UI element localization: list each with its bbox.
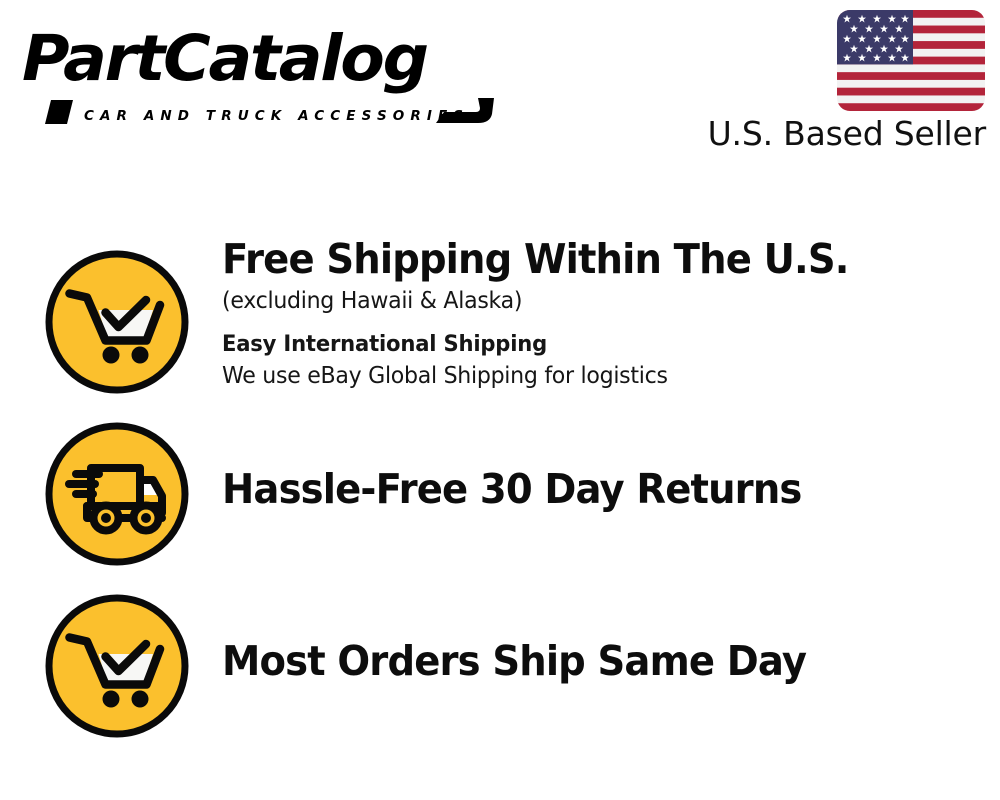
feature-list: Free Shipping Within The U.S. (excluding…	[0, 236, 1000, 752]
logo-flourish-left	[45, 100, 73, 124]
logo-flourish-right	[430, 98, 494, 124]
brand-tagline: CAR AND TRUCK ACCESSORIES	[84, 108, 469, 124]
us-based-seller-label: U.S. Based Seller	[696, 114, 986, 153]
cart-check-icon	[43, 248, 191, 396]
feature-heading: Free Shipping Within The U.S.	[222, 236, 938, 282]
us-flag-icon	[837, 10, 985, 111]
feature-row-returns: Hassle-Free 30 Day Returns	[0, 408, 1000, 580]
feature-subdetail-logistics: We use eBay Global Shipping for logistic…	[222, 361, 954, 392]
feature-text-returns: Hassle-Free 30 Day Returns	[222, 466, 984, 512]
us-based-seller-badge: U.S. Based Seller	[696, 10, 986, 153]
feature-heading: Most Orders Ship Same Day	[222, 638, 938, 684]
feature-text-free-shipping: Free Shipping Within The U.S. (excluding…	[222, 236, 984, 392]
feature-subnote-exclusion: (excluding Hawaii & Alaska)	[222, 286, 954, 317]
feature-row-free-shipping: Free Shipping Within The U.S. (excluding…	[0, 236, 1000, 408]
brand-wordmark: PartCatalog	[22, 22, 427, 95]
feature-heading: Hassle-Free 30 Day Returns	[222, 466, 938, 512]
cart-check-icon	[43, 592, 191, 740]
feature-text-same-day: Most Orders Ship Same Day	[222, 638, 984, 684]
fast-delivery-truck-icon	[43, 420, 191, 568]
feature-row-same-day-shipping: Most Orders Ship Same Day	[0, 580, 1000, 752]
brand-logo: PartCatalog CAR AND TRUCK ACCESSORIES	[22, 24, 492, 116]
feature-subtitle-international: Easy International Shipping	[222, 329, 954, 360]
